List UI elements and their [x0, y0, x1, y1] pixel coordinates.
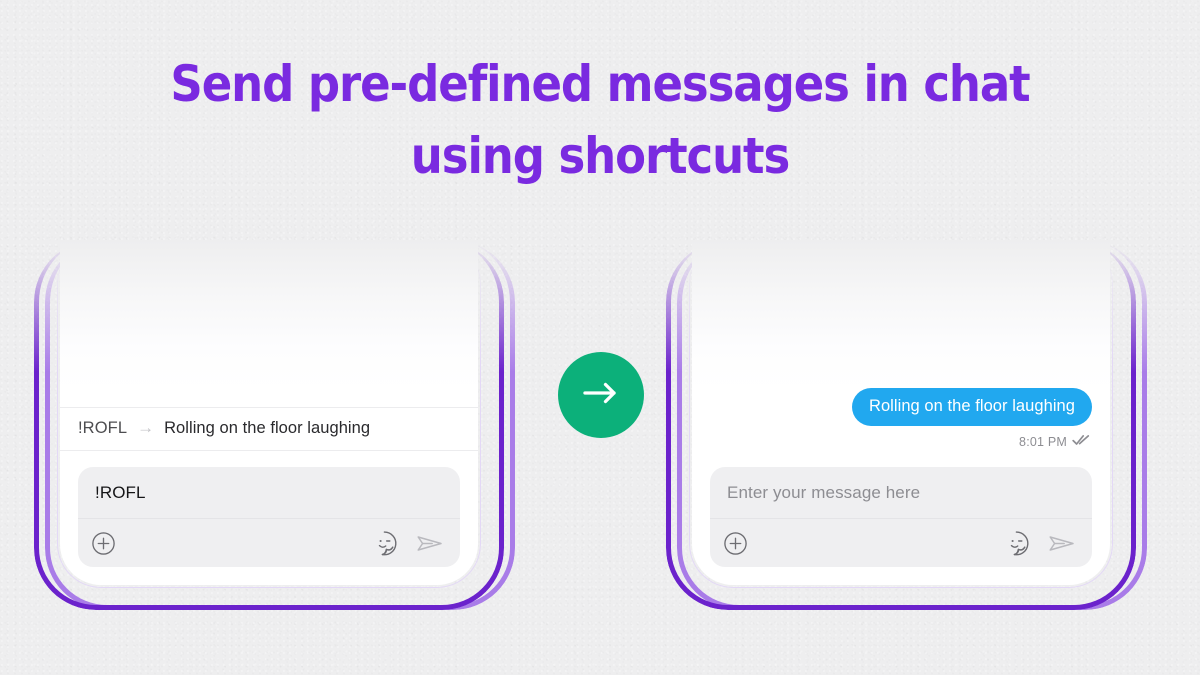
message-meta: 8:01 PM	[1019, 433, 1090, 451]
composer-actions-after	[710, 519, 1092, 567]
message-input-after[interactable]: Enter your message here	[710, 467, 1092, 519]
message-composer-before[interactable]: !ROFL	[78, 467, 460, 567]
plus-circle-icon[interactable]	[723, 531, 748, 556]
composer-actions-before	[78, 519, 460, 567]
arrow-right-icon: →	[137, 419, 154, 438]
transition-arrow-button[interactable]	[558, 352, 644, 438]
chat-screen-before: !ROFL → Rolling on the floor laughing !R…	[60, 240, 478, 585]
send-paper-plane-icon[interactable]	[414, 528, 445, 559]
message-composer-after[interactable]: Enter your message here	[710, 467, 1092, 567]
phone-mockup-before: !ROFL → Rolling on the floor laughing !R…	[34, 240, 504, 610]
page-title-line-2: using shortcuts	[60, 120, 1140, 192]
shortcut-suggestion-expansion: Rolling on the floor laughing	[164, 419, 370, 438]
send-paper-plane-icon[interactable]	[1046, 528, 1077, 559]
composer-right-actions-after	[1003, 528, 1077, 559]
page-title: Send pre-defined messages in chat using …	[60, 48, 1140, 192]
double-check-read-icon	[1072, 433, 1090, 451]
message-timestamp: 8:01 PM	[1019, 435, 1067, 449]
chat-screen-after: Rolling on the floor laughing 8:01 PM En…	[692, 240, 1110, 585]
message-input-before[interactable]: !ROFL	[78, 467, 460, 519]
page-title-line-1: Send pre-defined messages in chat	[60, 48, 1140, 120]
plus-circle-icon[interactable]	[91, 531, 116, 556]
arrow-right-icon	[580, 378, 622, 413]
message-list-after: Rolling on the floor laughing 8:01 PM	[692, 388, 1110, 451]
shortcut-suggestion-code: !ROFL	[78, 419, 127, 438]
composer-right-actions-before	[371, 528, 445, 559]
sticker-wink-icon[interactable]	[371, 530, 398, 557]
sticker-wink-icon[interactable]	[1003, 530, 1030, 557]
phone-mockup-after: Rolling on the floor laughing 8:01 PM En…	[666, 240, 1136, 610]
shortcut-suggestion-row[interactable]: !ROFL → Rolling on the floor laughing	[60, 407, 478, 451]
outgoing-message-bubble[interactable]: Rolling on the floor laughing	[852, 388, 1092, 426]
